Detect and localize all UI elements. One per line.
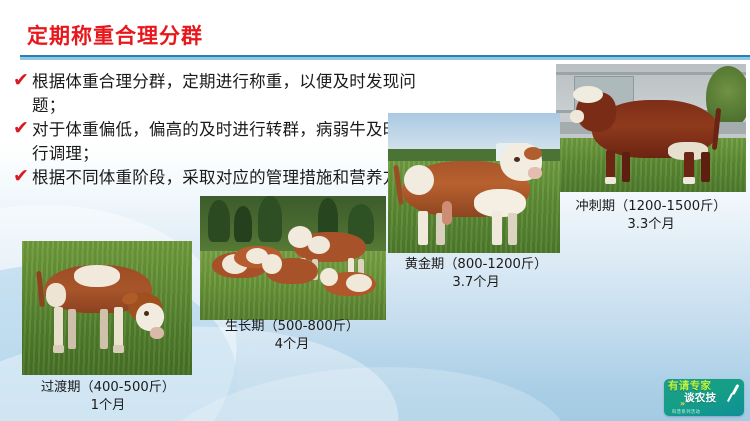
calf-back-patch — [74, 265, 120, 287]
calf-muzzle — [150, 327, 164, 339]
conifer-tree — [258, 196, 282, 242]
checkmark-icon: ✔ — [10, 69, 32, 92]
bull-eye — [514, 157, 520, 162]
bullet-list: ✔ 根据体重合理分群，定期进行称重，以便及时发现问题； ✔ 对于体重偏低，偏高的… — [10, 70, 430, 191]
caption-bull-red: 冲刺期（1200-1500斤） 3.3个月 — [544, 198, 750, 234]
calf-shoulder-patch — [46, 283, 66, 307]
bull-muzzle — [528, 167, 542, 179]
photo-calf — [22, 241, 192, 375]
caption-line-2: 3.3个月 — [544, 216, 750, 234]
list-item-label: 根据不同体重阶段，采取对应的管理措施和营养方。 — [32, 166, 416, 190]
program-logo: 有请专家 谈农技 » 科普系列活动 — [664, 379, 744, 416]
cow-head — [262, 254, 282, 274]
divider-line-light — [20, 57, 750, 60]
bull-leg — [418, 211, 428, 245]
bull-hoof — [605, 177, 616, 184]
caption-line-1: 冲刺期（1200-1500斤） — [575, 199, 726, 214]
checkmark-icon: ✔ — [10, 117, 32, 140]
caption-bull-simmental: 黄金期（800-1200斤） 3.7个月 — [378, 256, 574, 292]
logo-subtitle: 科普系列活动 — [672, 409, 700, 415]
calf-eye — [144, 311, 149, 316]
checkmark-icon: ✔ — [10, 165, 32, 188]
bull-hoof — [683, 177, 695, 184]
list-item: ✔ 根据不同体重阶段，采取对应的管理措施和营养方。 — [10, 166, 430, 190]
logo-line-1: 有请专家 — [668, 380, 711, 392]
caption-calf: 过渡期（400-500斤） 1个月 — [8, 379, 208, 415]
bull-underline — [442, 201, 452, 225]
page-title: 定期称重合理分群 — [27, 20, 203, 50]
conifer-tree — [234, 206, 252, 242]
caption-line-2: 3.7个月 — [378, 274, 574, 292]
conifer-tree — [208, 200, 230, 242]
caption-line-2: 4个月 — [192, 336, 392, 354]
list-item-label: 对于体重偏低，偏高的及时进行转群，病弱牛及时进行调理； — [32, 118, 430, 165]
caption-line-1: 黄金期（800-1200斤） — [405, 257, 548, 272]
bull-leg — [492, 211, 502, 245]
photo-bull-red — [556, 64, 746, 192]
list-item: ✔ 对于体重偏低，偏高的及时进行转群，病弱牛及时进行调理； — [10, 118, 430, 165]
caption-herd: 生长期（500-800斤） 4个月 — [192, 318, 392, 354]
caption-line-1: 生长期（500-800斤） — [225, 319, 359, 334]
slide-canvas: 定期称重合理分群 ✔ 根据体重合理分群，定期进行称重，以便及时发现问题； ✔ 对… — [0, 0, 750, 421]
list-item-label: 根据体重合理分群，定期进行称重，以便及时发现问题； — [32, 70, 430, 117]
bull-shoulder-patch — [404, 165, 434, 195]
cow-head — [320, 268, 338, 286]
caption-line-2: 1个月 — [8, 397, 208, 415]
photo-herd — [200, 196, 386, 320]
list-item: ✔ 根据体重合理分群，定期进行称重，以便及时发现问题； — [10, 70, 430, 117]
cow-head — [288, 226, 312, 248]
title-divider — [20, 55, 750, 60]
bull-leg — [508, 213, 517, 245]
caption-line-1: 过渡期（400-500斤） — [41, 380, 175, 395]
bull-poll-white — [573, 86, 603, 103]
chevron-right-icon: » — [680, 399, 685, 408]
photo-bull-simmental — [388, 113, 560, 253]
bull-leg — [622, 152, 630, 182]
calf-leg — [100, 309, 108, 349]
bull-leg — [701, 152, 710, 182]
calf-hoof — [53, 345, 64, 353]
cow-patch — [346, 274, 372, 292]
calf-hoof — [113, 345, 124, 353]
calf-leg — [68, 309, 76, 349]
background-swoosh-4 — [144, 354, 576, 421]
bull-ear — [524, 147, 542, 160]
bull-muzzle — [570, 110, 584, 123]
